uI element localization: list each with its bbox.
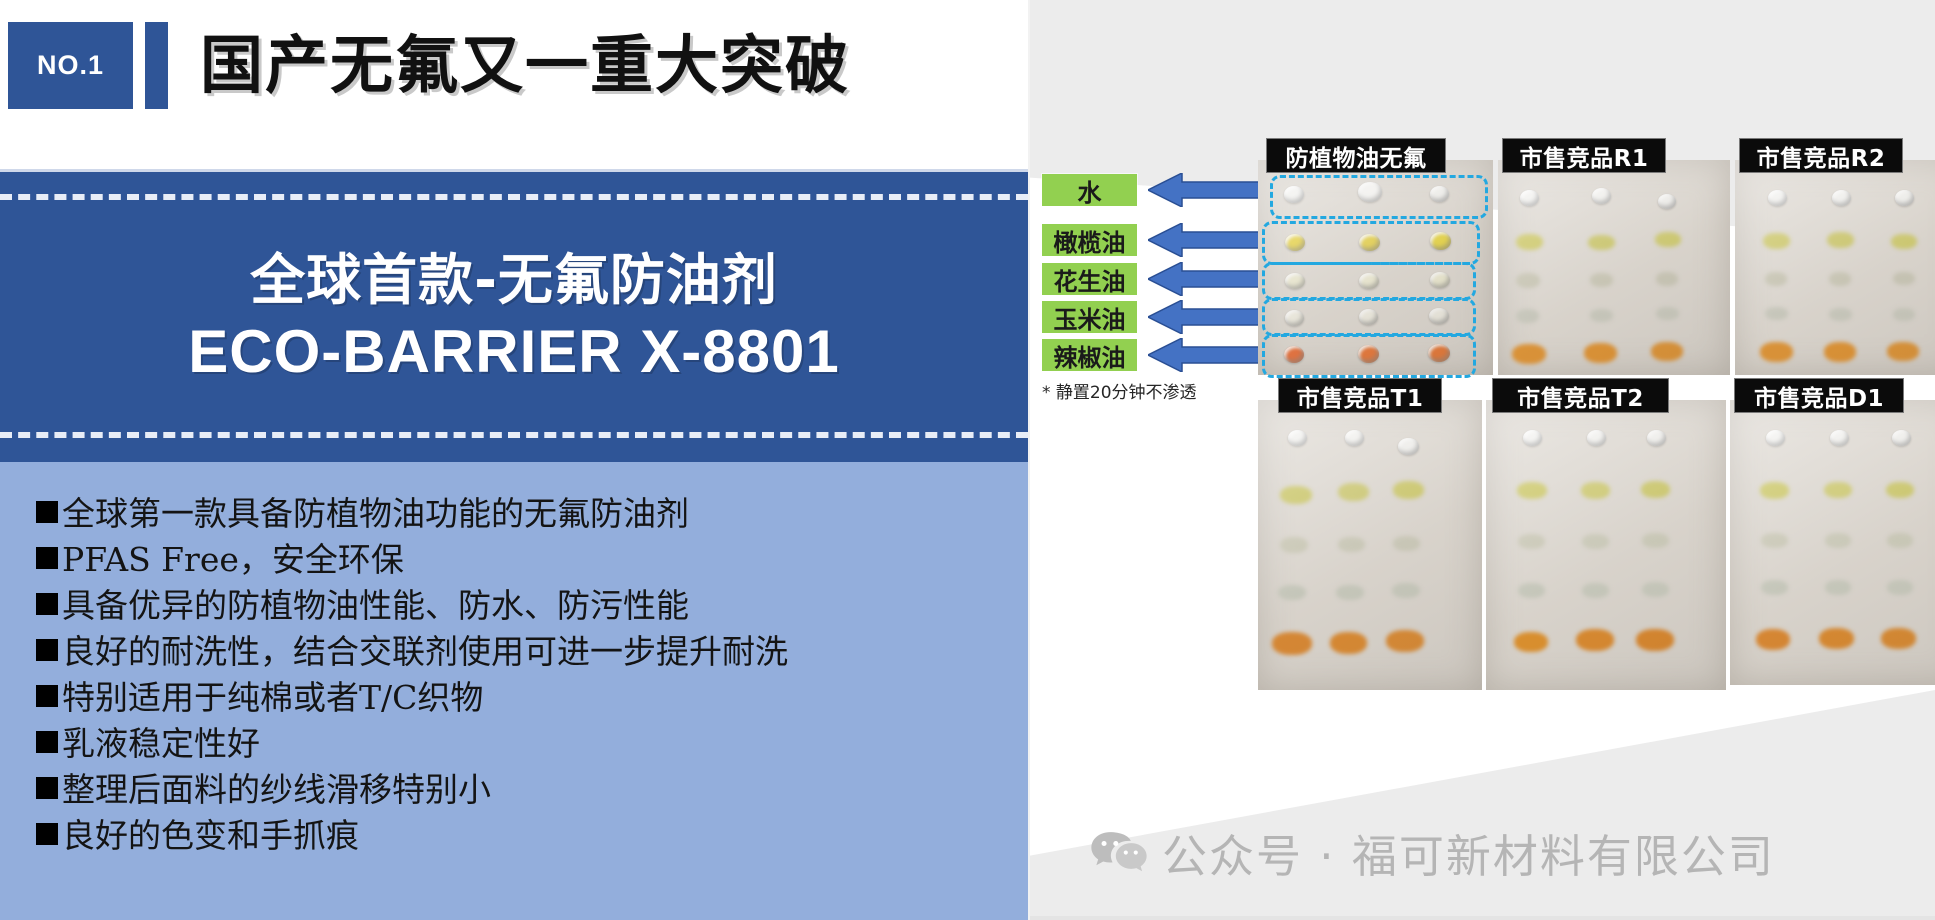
liquid-label-corn-oil: 玉米油 (1042, 301, 1137, 333)
board-label-d1: 市售竞品D1 (1734, 378, 1904, 413)
feature-bullet-item: 特别适用于纯棉或者T/C织物 (36, 676, 1028, 720)
sample-board-t2 (1486, 400, 1726, 690)
feature-bullet-text: 乳液稳定性好 (62, 722, 260, 766)
feature-bullet-item: 具备优异的防植物油性能、防水、防污性能 (36, 584, 1028, 628)
left-panel: NO.1 国产无氟又一重大突破 全球首款-无氟防油剂 ECO-BARRIER X… (0, 0, 1030, 920)
sample-board-r1 (1498, 160, 1730, 375)
liquid-label-peanut-oil: 花生油 (1042, 263, 1137, 295)
feature-bullet-item: 乳液稳定性好 (36, 722, 1028, 766)
liquid-label-water: 水 (1042, 174, 1137, 206)
feature-bullet-item: 良好的色变和手抓痕 (36, 814, 1028, 858)
product-banner: 全球首款-无氟防油剂 ECO-BARRIER X-8801 (0, 172, 1028, 462)
feature-bullet-text: 整理后面料的纱线滑移特别小 (62, 768, 491, 812)
feature-bullet-text: 具备优异的防植物油性能、防水、防污性能 (62, 584, 689, 628)
page-title: 国产无氟又一重大突破 (200, 20, 850, 112)
bullet-square-icon (36, 823, 58, 845)
feature-bullet-text: 良好的色变和手抓痕 (62, 814, 359, 858)
watermark-text: 公众号 · 福可新材料有限公司 (1162, 820, 1775, 885)
badge-accent-bar (145, 22, 168, 109)
liquid-label-chili-oil: 辣椒油 (1042, 339, 1137, 371)
bullet-square-icon (36, 547, 58, 569)
feature-bullet-text: PFAS Free，安全环保 (62, 538, 404, 582)
highlight-row-water (1270, 175, 1488, 219)
feature-bullet-item: 整理后面料的纱线滑移特别小 (36, 768, 1028, 812)
feature-bullet-list: 全球第一款具备防植物油功能的无氟防油剂 PFAS Free，安全环保具备优异的防… (0, 462, 1028, 920)
slide-header: NO.1 国产无氟又一重大突破 (0, 0, 1028, 172)
test-footnote: * 静置20分钟不渗透 (1042, 378, 1222, 403)
banner-product-code: ECO-BARRIER X-8801 (188, 315, 840, 389)
highlight-row-peanut-oil (1262, 262, 1476, 300)
bullet-square-icon (36, 731, 58, 753)
board-label-r2: 市售竞品R2 (1739, 138, 1903, 173)
no-1-badge: NO.1 (8, 22, 133, 109)
liquid-label-olive-oil: 橄榄油 (1042, 224, 1137, 256)
wechat-icon (1090, 830, 1148, 876)
feature-bullet-text: 全球第一款具备防植物油功能的无氟防油剂 (62, 492, 689, 536)
highlight-row-corn-oil (1262, 298, 1476, 336)
board-label-t2: 市售竞品T2 (1492, 378, 1669, 413)
feature-bullet-item: 全球第一款具备防植物油功能的无氟防油剂 (36, 492, 1028, 536)
sample-board-d1 (1730, 400, 1935, 685)
highlight-row-chili-oil (1262, 334, 1476, 378)
watermark: 公众号 · 福可新材料有限公司 (1090, 820, 1775, 885)
board-label-r1: 市售竞品R1 (1502, 138, 1666, 173)
board-label-t1: 市售竞品T1 (1278, 378, 1442, 413)
bullet-square-icon (36, 501, 58, 523)
test-result-panel: 水 橄榄油 花生油 玉米油 辣椒油 * 静置20分钟不渗透 (1030, 0, 1935, 920)
feature-bullet-text: 特别适用于纯棉或者T/C织物 (62, 676, 483, 720)
banner-dashed-line-top (0, 194, 1028, 200)
bullet-square-icon (36, 777, 58, 799)
feature-bullet-item: PFAS Free，安全环保 (36, 538, 1028, 582)
banner-subtitle-cn: 全球首款-无氟防油剂 (250, 245, 778, 315)
bullet-square-icon (36, 685, 58, 707)
bullet-square-icon (36, 593, 58, 615)
board-label-own-product: 防植物油无氟 (1266, 138, 1446, 173)
sample-board-t1 (1258, 400, 1482, 690)
feature-bullet-item: 良好的耐洗性，结合交联剂使用可进一步提升耐洗 (36, 630, 1028, 674)
slide-root: NO.1 国产无氟又一重大突破 全球首款-无氟防油剂 ECO-BARRIER X… (0, 0, 1935, 920)
feature-bullet-text: 良好的耐洗性，结合交联剂使用可进一步提升耐洗 (62, 630, 788, 674)
banner-dashed-line-bottom (0, 432, 1028, 438)
highlight-row-olive-oil (1262, 221, 1480, 265)
bullet-square-icon (36, 639, 58, 661)
sample-board-r2 (1735, 160, 1935, 375)
